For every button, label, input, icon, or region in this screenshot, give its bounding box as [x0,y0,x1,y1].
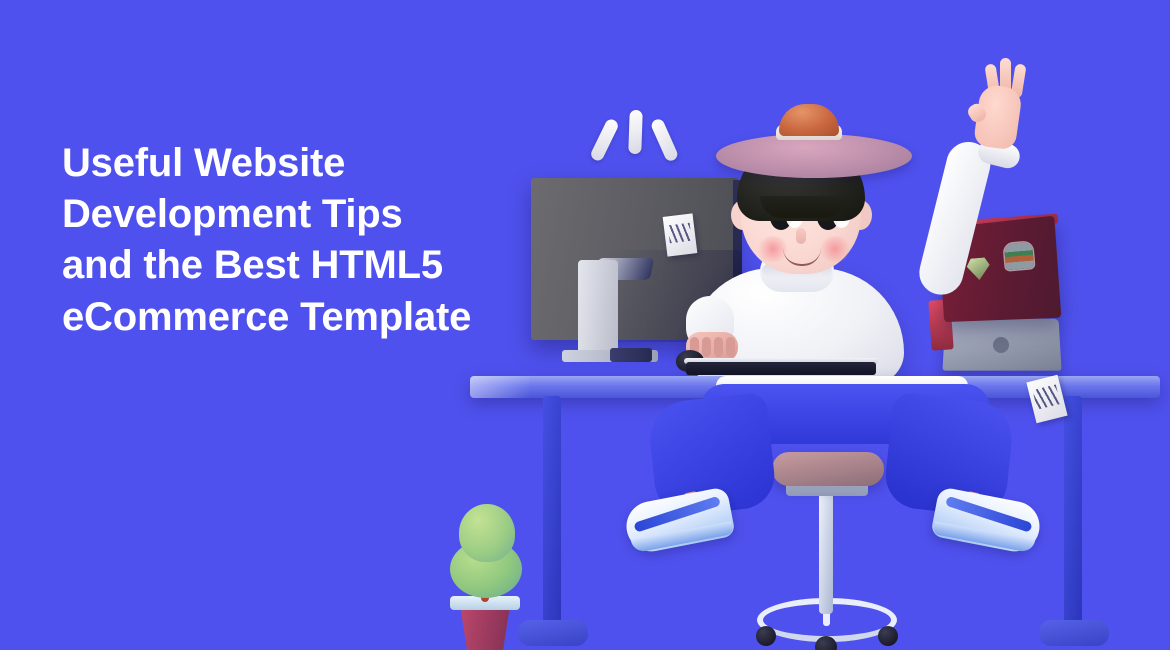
character-nose [796,228,806,244]
excitement-mark-left-icon [589,117,620,162]
character-hat-brim [716,134,912,178]
desk-top-highlight [470,376,530,398]
sticky-note-monitor [663,213,698,256]
blog-banner: Useful Website Development Tips and the … [0,0,1170,650]
laptop-stand-hole [993,337,1009,353]
chair-caster-right [878,626,898,646]
character-hat-crown [779,104,839,136]
banner-headline: Useful Website Development Tips and the … [62,138,562,343]
chair-seat [772,452,884,486]
desk-foot-right [1039,620,1109,646]
desk-leg-left [543,396,561,632]
character-hair-fringe [760,196,846,218]
desk-leg-right [1064,396,1082,632]
plant-leaf-upper [459,504,515,562]
character-sneaker-right [930,486,1044,555]
monitor-stand-foot-shadow [610,348,652,362]
chair-post [819,492,833,614]
chair-caster-left [756,626,776,646]
scribble-lines-icon [1033,385,1060,409]
left-hand-finger-3 [714,337,723,357]
headline-line-3: and the Best HTML5 [62,240,562,291]
headline-line-4: eCommerce Template [62,292,562,343]
excitement-mark-center-icon [628,110,643,154]
character-sneaker-left [622,486,736,555]
burger-sticker-icon [1004,242,1034,270]
left-hand-finger-4 [726,337,735,357]
plant-pot [455,604,515,650]
left-hand-finger-2 [702,337,711,357]
monitor-stand-neck [578,260,618,354]
scribble-lines-icon [668,223,692,244]
excitement-mark-right-icon [650,117,680,162]
keyboard [686,362,876,375]
character-cheek-right [818,236,852,262]
headline-line-1: Useful Website [62,138,562,189]
desk-foot-left [518,620,588,646]
headline-line-2: Development Tips [62,189,562,240]
